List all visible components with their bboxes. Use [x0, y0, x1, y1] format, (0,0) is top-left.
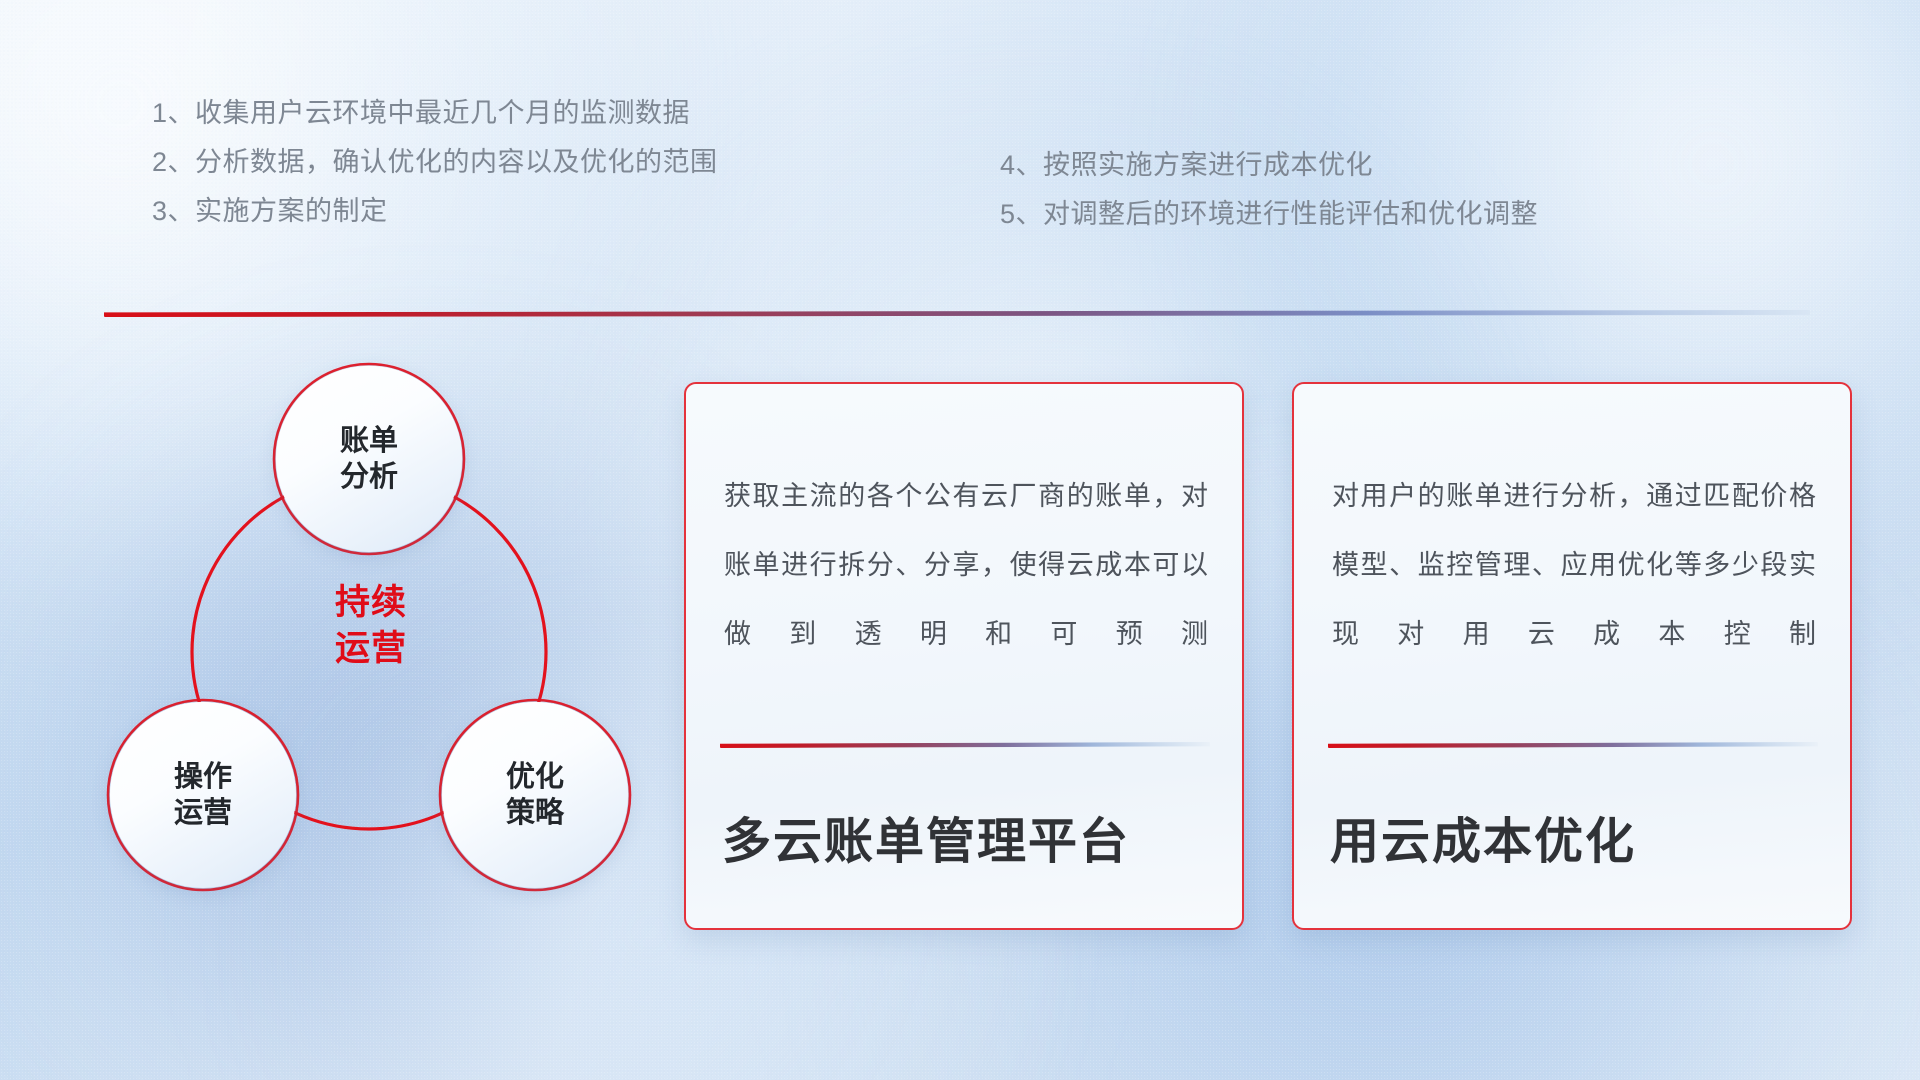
step-item-4: 4、按照实施方案进行成本优化 — [1000, 152, 1538, 179]
feature-card-divider — [1328, 742, 1818, 748]
step-item-5: 5、对调整后的环境进行性能评估和优化调整 — [1000, 201, 1538, 228]
slide-canvas: 1、收集用户云环境中最近几个月的监测数据 2、分析数据，确认优化的内容以及优化的… — [0, 0, 1920, 1080]
feature-card-body: 获取主流的各个公有云厂商的账单，对账单进行拆分、分享，使得云成本可以做到透明和可… — [724, 462, 1208, 669]
step-item-2: 2、分析数据，确认优化的内容以及优化的范围 — [152, 149, 718, 176]
venn-bubble-operations[interactable]: 操作 运营 — [110, 702, 296, 888]
venn-diagram: 账单 分析 操作 运营 优化 策略 持续 运营 — [96, 352, 656, 932]
venn-bubble-label-line1: 优化 — [506, 759, 564, 795]
venn-bubble-label-line1: 操作 — [174, 759, 232, 795]
feature-card-divider — [720, 742, 1210, 748]
venn-center-label-line2: 运营 — [306, 626, 436, 672]
venn-bubble-optimization-strategy[interactable]: 优化 策略 — [442, 702, 628, 888]
venn-bubble-label-line1: 账单 — [340, 423, 398, 459]
steps-right-column: 4、按照实施方案进行成本优化 5、对调整后的环境进行性能评估和优化调整 — [1000, 152, 1538, 228]
feature-card-multicloud-billing[interactable]: 获取主流的各个公有云厂商的账单，对账单进行拆分、分享，使得云成本可以做到透明和可… — [684, 382, 1244, 930]
step-item-1: 1、收集用户云环境中最近几个月的监测数据 — [152, 100, 718, 127]
feature-card-cost-optimization[interactable]: 对用户的账单进行分析，通过匹配价格模型、监控管理、应用优化等多少段实现对用云成本… — [1292, 382, 1852, 930]
step-item-3: 3、实施方案的制定 — [152, 198, 718, 225]
steps-left-column: 1、收集用户云环境中最近几个月的监测数据 2、分析数据，确认优化的内容以及优化的… — [152, 100, 718, 225]
feature-card-title: 用云成本优化 — [1330, 802, 1820, 873]
venn-bubble-label-line2: 分析 — [340, 459, 398, 495]
venn-bubble-label-line2: 策略 — [506, 795, 564, 831]
feature-card-body: 对用户的账单进行分析，通过匹配价格模型、监控管理、应用优化等多少段实现对用云成本… — [1332, 462, 1816, 669]
venn-bubble-bill-analysis[interactable]: 账单 分析 — [276, 366, 462, 552]
feature-card-title: 多云账单管理平台 — [722, 802, 1212, 873]
venn-bubble-label-line2: 运营 — [174, 795, 232, 831]
venn-center-label: 持续 运营 — [306, 580, 436, 671]
venn-center-label-line1: 持续 — [306, 580, 436, 626]
